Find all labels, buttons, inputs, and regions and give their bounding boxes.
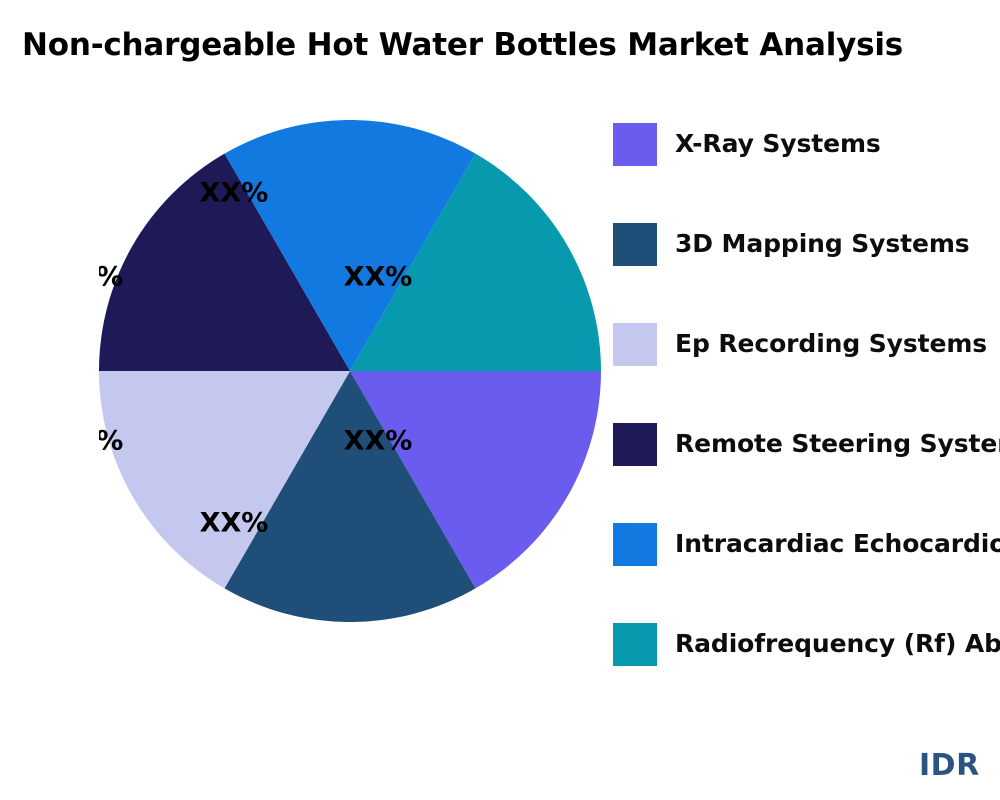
legend-swatch-icon [613,123,657,166]
legend-item-remote-steering-systems[interactable]: Remote Steering Systems [613,422,1000,466]
legend-item-label: Intracardiac Echocardiography [675,530,1000,558]
pie-chart-svg: XX% XX% XX% XX% XX% XX% [99,120,601,622]
pie-label-3d-mapping-systems: XX% [200,508,269,539]
page-title: Non-chargeable Hot Water Bottles Market … [22,22,903,68]
legend-swatch-icon [613,623,657,666]
legend-item-3d-mapping-systems[interactable]: 3D Mapping Systems [613,222,970,266]
brand-watermark: IDR [919,748,980,783]
chart-canvas: Non-chargeable Hot Water Bottles Market … [0,0,1000,800]
pie-chart: XX% XX% XX% XX% XX% XX% [99,120,601,622]
legend-item-label: Ep Recording Systems [675,330,987,358]
pie-label-intracardiac-echocardiography: XX% [200,178,269,209]
chart-legend: X-Ray Systems 3D Mapping Systems Ep Reco… [613,119,1000,679]
legend-swatch-icon [613,423,657,466]
legend-item-label: Remote Steering Systems [675,430,1000,458]
legend-item-label: 3D Mapping Systems [675,230,970,258]
legend-swatch-icon [613,323,657,366]
pie-slices [99,120,601,622]
pie-label-remote-steering-systems: XX% [99,262,123,293]
legend-item-label: X-Ray Systems [675,130,881,158]
legend-item-radiofrequency-rf-ablators[interactable]: Radiofrequency (Rf) Ablators [613,622,1000,666]
pie-label-ep-recording-systems: XX% [99,426,123,457]
legend-item-x-ray-systems[interactable]: X-Ray Systems [613,122,881,166]
pie-label-radiofrequency-rf-ablators: XX% [344,262,413,293]
legend-item-ep-recording-systems[interactable]: Ep Recording Systems [613,322,987,366]
legend-item-intracardiac-echocardiography[interactable]: Intracardiac Echocardiography [613,522,1000,566]
legend-swatch-icon [613,223,657,266]
legend-item-label: Radiofrequency (Rf) Ablators [675,630,1000,658]
legend-swatch-icon [613,523,657,566]
pie-label-x-ray-systems: XX% [344,426,413,457]
